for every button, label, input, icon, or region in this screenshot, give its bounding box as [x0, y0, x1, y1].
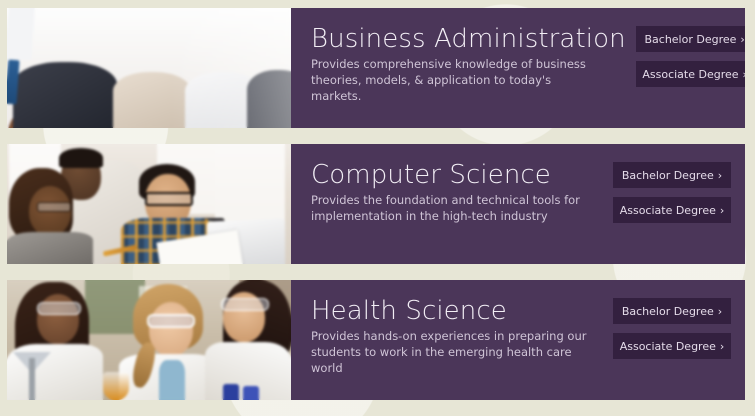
program-panel-computer-science: Computer Science Provides the foundation…: [291, 144, 745, 264]
chevron-right-icon: ›: [720, 205, 724, 216]
program-photo-computer-science: [7, 144, 291, 264]
program-photo-health-science: [7, 280, 291, 400]
bachelor-degree-label: Bachelor Degree: [644, 34, 736, 45]
chevron-right-icon: ›: [718, 306, 722, 317]
bachelor-degree-button[interactable]: Bachelor Degree ›: [613, 162, 731, 188]
program-text-block: Health Science Provides hands-on experie…: [311, 296, 613, 376]
chevron-right-icon: ›: [740, 34, 744, 45]
associate-degree-label: Associate Degree: [620, 341, 716, 352]
bachelor-degree-button[interactable]: Bachelor Degree ›: [636, 26, 745, 52]
chevron-right-icon: ›: [718, 170, 722, 181]
program-panel-business-administration: Business Administration Provides compreh…: [291, 8, 745, 128]
program-title: Business Administration: [311, 24, 626, 54]
business-professionals-group-photo: [7, 8, 291, 128]
program-description: Provides comprehensive knowledge of busi…: [311, 56, 591, 104]
program-photo-business-administration: [7, 8, 291, 128]
program-text-block: Business Administration Provides compreh…: [311, 24, 636, 104]
program-card-business-administration[interactable]: Business Administration Provides compreh…: [7, 8, 745, 128]
program-actions: Bachelor Degree › Associate Degree ›: [636, 24, 745, 87]
associate-degree-button[interactable]: Associate Degree ›: [613, 197, 731, 223]
associate-degree-button[interactable]: Associate Degree ›: [613, 333, 731, 359]
students-collaborating-at-laptop-photo: [7, 144, 291, 264]
program-panel-health-science: Health Science Provides hands-on experie…: [291, 280, 745, 400]
program-actions: Bachelor Degree › Associate Degree ›: [613, 296, 733, 359]
program-title: Health Science: [311, 296, 603, 326]
program-card-health-science[interactable]: Health Science Provides hands-on experie…: [7, 280, 745, 400]
program-card-list: Business Administration Provides compreh…: [0, 0, 755, 412]
chevron-right-icon: ›: [743, 69, 745, 80]
associate-degree-label: Associate Degree: [620, 205, 716, 216]
bachelor-degree-label: Bachelor Degree: [622, 170, 714, 181]
chevron-right-icon: ›: [720, 341, 724, 352]
science-lab-students-photo: [7, 280, 291, 400]
associate-degree-label: Associate Degree: [642, 69, 738, 80]
program-description: Provides the foundation and technical to…: [311, 192, 591, 224]
bachelor-degree-label: Bachelor Degree: [622, 306, 714, 317]
program-description: Provides hands-on experiences in prepari…: [311, 328, 591, 376]
program-actions: Bachelor Degree › Associate Degree ›: [613, 160, 733, 223]
associate-degree-button[interactable]: Associate Degree ›: [636, 61, 745, 87]
program-card-computer-science[interactable]: Computer Science Provides the foundation…: [7, 144, 745, 264]
program-text-block: Computer Science Provides the foundation…: [311, 160, 613, 224]
program-title: Computer Science: [311, 160, 603, 190]
bachelor-degree-button[interactable]: Bachelor Degree ›: [613, 298, 731, 324]
